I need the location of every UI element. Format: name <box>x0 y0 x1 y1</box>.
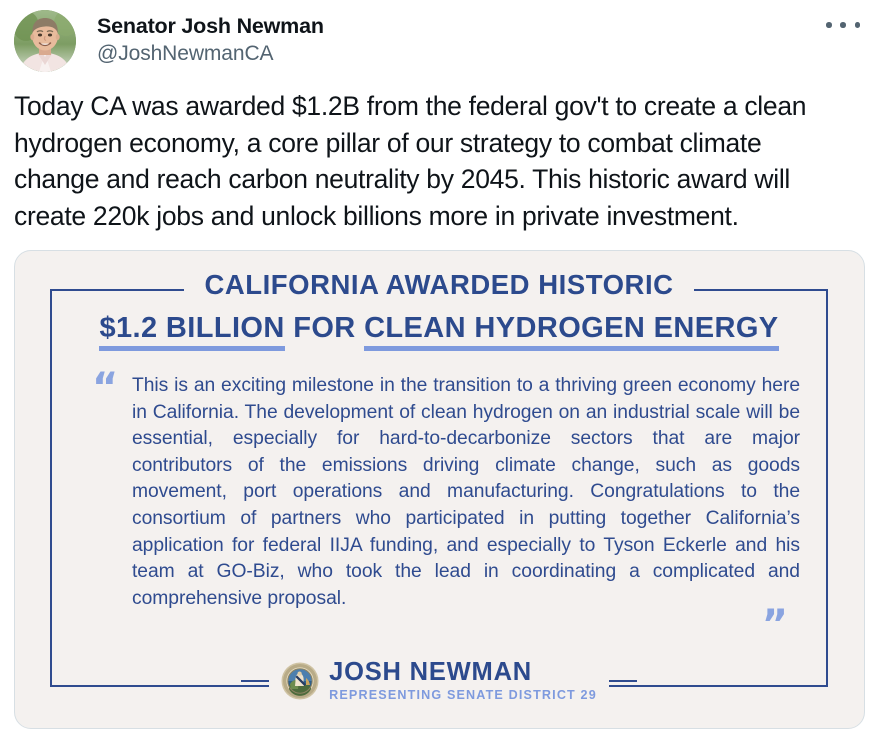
footer-name-block: JOSH NEWMAN REPRESENTING SENATE DISTRICT… <box>329 659 597 703</box>
headline-rule-left <box>52 289 184 291</box>
tweet-media-card[interactable]: CALIFORNIA AWARDED HISTORIC $1.2 BILLION… <box>14 250 865 729</box>
headline-for: FOR <box>293 312 355 344</box>
poster-headline: CALIFORNIA AWARDED HISTORIC $1.2 BILLION… <box>52 268 826 348</box>
california-state-seal-icon <box>281 662 319 700</box>
display-name[interactable]: Senator Josh Newman <box>97 14 324 39</box>
tweet-header: Senator Josh Newman @JoshNewmanCA <box>0 0 878 78</box>
headline-rule-right <box>694 289 826 291</box>
more-options-icon[interactable] <box>826 14 860 36</box>
footer-senator-name: JOSH NEWMAN <box>329 659 597 686</box>
footer-rule-left <box>241 680 269 682</box>
quote-open-icon: “ <box>92 373 118 403</box>
tweet-body-text: Today CA was awarded $1.2B from the fede… <box>0 78 878 234</box>
identity-block: Senator Josh Newman @JoshNewmanCA <box>97 8 324 67</box>
footer-rule-right <box>609 680 637 682</box>
user-handle[interactable]: @JoshNewmanCA <box>97 40 324 67</box>
poster-frame: CALIFORNIA AWARDED HISTORIC $1.2 BILLION… <box>50 289 828 687</box>
dot <box>826 22 832 28</box>
poster-quote-block: “ This is an exciting milestone in the t… <box>92 373 800 612</box>
quote-close-icon: ” <box>762 610 788 640</box>
poster-footer: JOSH NEWMAN REPRESENTING SENATE DISTRICT… <box>52 659 826 703</box>
headline-amount: $1.2 BILLION <box>99 312 284 351</box>
avatar[interactable] <box>14 10 76 72</box>
quote-text: This is an exciting milestone in the tra… <box>132 373 800 612</box>
dot <box>840 22 846 28</box>
headline-subject: CLEAN HYDROGEN ENERGY <box>364 312 778 351</box>
headline-line-1: CALIFORNIA AWARDED HISTORIC <box>190 268 687 302</box>
footer-district-subtitle: REPRESENTING SENATE DISTRICT 29 <box>329 687 597 703</box>
dot <box>855 22 861 28</box>
headline-line-2: $1.2 BILLION FOR CLEAN HYDROGEN ENERGY <box>52 308 826 348</box>
footer-inner: JOSH NEWMAN REPRESENTING SENATE DISTRICT… <box>269 659 609 703</box>
